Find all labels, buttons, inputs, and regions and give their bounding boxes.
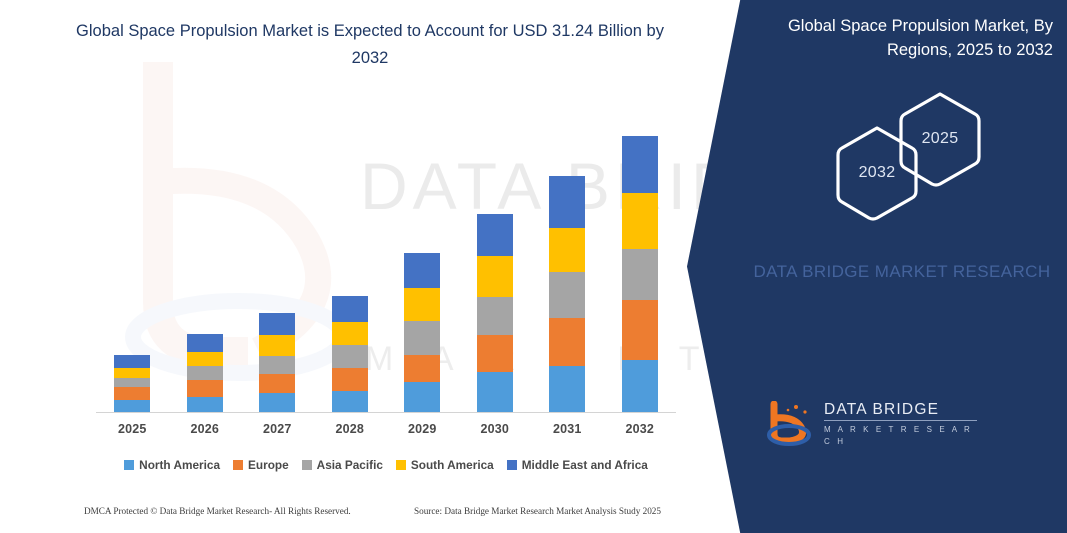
bar-stack (187, 334, 223, 412)
bar-segment[interactable] (332, 345, 368, 368)
bar-segment[interactable] (622, 249, 658, 300)
legend-item[interactable]: South America (396, 458, 494, 472)
bar-segment[interactable] (622, 193, 658, 249)
bar-stack (477, 214, 513, 412)
bar-segment[interactable] (477, 256, 513, 297)
brand-text: DATA BRIDGE M A R K E T R E S E A R C H (824, 401, 977, 448)
bar-segment[interactable] (549, 228, 585, 272)
bar-segment[interactable] (404, 253, 440, 288)
x-axis-label-2030: 2030 (459, 422, 530, 444)
x-axis-label-2032: 2032 (604, 422, 675, 444)
bar-segment[interactable] (259, 374, 295, 393)
x-axis-label-2031: 2031 (532, 422, 603, 444)
x-axis-label-2026: 2026 (169, 422, 240, 444)
legend-item[interactable]: North America (124, 458, 220, 472)
legend-label: Europe (248, 458, 289, 472)
brand-subtitle: M A R K E T R E S E A R C H (824, 424, 977, 448)
bar-group (96, 120, 676, 412)
right-panel-content: Global Space Propulsion Market, By Regio… (749, 0, 1067, 533)
bar-segment[interactable] (259, 313, 295, 335)
right-panel: Global Space Propulsion Market, By Regio… (687, 0, 1067, 533)
bar-column-2030[interactable] (459, 120, 530, 412)
footer-source: Source: Data Bridge Market Research Mark… (414, 506, 661, 516)
legend-label: South America (411, 458, 494, 472)
legend-swatch-icon (507, 460, 517, 470)
footer-copyright: DMCA Protected © Data Bridge Market Rese… (84, 506, 414, 516)
x-axis-line (96, 412, 676, 413)
bar-segment[interactable] (332, 296, 368, 322)
bar-segment[interactable] (114, 387, 150, 400)
bar-stack (404, 253, 440, 412)
bar-segment[interactable] (477, 214, 513, 256)
x-axis-label-2029: 2029 (387, 422, 458, 444)
panel-watermark-text: DATA BRIDGE MARKET RESEARCH (749, 258, 1055, 285)
bar-column-2026[interactable] (169, 120, 240, 412)
bar-segment[interactable] (187, 397, 223, 412)
footer: DMCA Protected © Data Bridge Market Rese… (84, 506, 684, 516)
bar-segment[interactable] (404, 355, 440, 382)
bar-segment[interactable] (114, 378, 150, 387)
bar-segment[interactable] (549, 318, 585, 366)
legend-swatch-icon (302, 460, 312, 470)
bar-segment[interactable] (549, 366, 585, 412)
bar-segment[interactable] (477, 372, 513, 412)
bar-segment[interactable] (114, 355, 150, 368)
bar-segment[interactable] (259, 393, 295, 412)
brand-divider (824, 420, 977, 421)
bar-segment[interactable] (114, 368, 150, 378)
bar-stack (549, 176, 585, 412)
brand-name: DATA BRIDGE (824, 401, 977, 418)
bar-column-2029[interactable] (387, 120, 458, 412)
panel-title: Global Space Propulsion Market, By Regio… (749, 14, 1053, 62)
x-axis-label-2028: 2028 (314, 422, 385, 444)
x-axis-label-2027: 2027 (242, 422, 313, 444)
data-bridge-logo-icon (767, 401, 815, 447)
x-axis-labels: 20252026202720282029203020312032 (96, 422, 676, 444)
bar-segment[interactable] (549, 272, 585, 318)
bar-segment[interactable] (477, 297, 513, 335)
bar-segment[interactable] (259, 356, 295, 374)
legend-item[interactable]: Asia Pacific (302, 458, 383, 472)
legend-swatch-icon (396, 460, 406, 470)
hexagon-badge-label: 2032 (834, 124, 920, 222)
bar-segment[interactable] (622, 300, 658, 360)
legend-label: North America (139, 458, 220, 472)
bar-segment[interactable] (404, 382, 440, 412)
bar-column-2025[interactable] (97, 120, 168, 412)
hexagon-badges: 2025 2032 (749, 82, 1067, 202)
bar-segment[interactable] (259, 335, 295, 356)
chart-legend: North AmericaEuropeAsia PacificSouth Ame… (96, 455, 676, 475)
bar-segment[interactable] (332, 391, 368, 412)
bar-column-2027[interactable] (242, 120, 313, 412)
bar-segment[interactable] (622, 360, 658, 412)
hexagon-badge-2032: 2032 (834, 124, 920, 222)
bar-segment[interactable] (114, 400, 150, 412)
bar-segment[interactable] (549, 176, 585, 228)
bar-stack (114, 355, 150, 412)
legend-item[interactable]: Europe (233, 458, 289, 472)
legend-swatch-icon (233, 460, 243, 470)
page-title: Global Space Propulsion Market is Expect… (60, 18, 680, 72)
bar-stack (259, 313, 295, 412)
stacked-bar-plot (96, 120, 676, 413)
bar-segment[interactable] (187, 352, 223, 366)
bar-segment[interactable] (404, 288, 440, 321)
bar-stack (332, 296, 368, 412)
bar-segment[interactable] (332, 368, 368, 391)
legend-label: Middle East and Africa (522, 458, 648, 472)
bar-segment[interactable] (187, 366, 223, 380)
legend-swatch-icon (124, 460, 134, 470)
bar-segment[interactable] (404, 321, 440, 355)
bar-segment[interactable] (187, 380, 223, 397)
legend-label: Asia Pacific (317, 458, 383, 472)
legend-item[interactable]: Middle East and Africa (507, 458, 648, 472)
bar-column-2028[interactable] (314, 120, 385, 412)
bar-column-2032[interactable] (604, 120, 675, 412)
bar-column-2031[interactable] (532, 120, 603, 412)
bar-segment[interactable] (477, 335, 513, 372)
x-axis-label-2025: 2025 (97, 422, 168, 444)
bar-segment[interactable] (622, 136, 658, 193)
bar-stack (622, 136, 658, 412)
bar-segment[interactable] (332, 322, 368, 345)
chart-area: DATA BRIDGE M A R K E T R E S E A R C H … (0, 0, 760, 533)
brand-logo: DATA BRIDGE M A R K E T R E S E A R C H (767, 398, 977, 450)
infographic-canvas: DATA BRIDGE M A R K E T R E S E A R C H … (0, 0, 1067, 533)
bar-segment[interactable] (187, 334, 223, 352)
